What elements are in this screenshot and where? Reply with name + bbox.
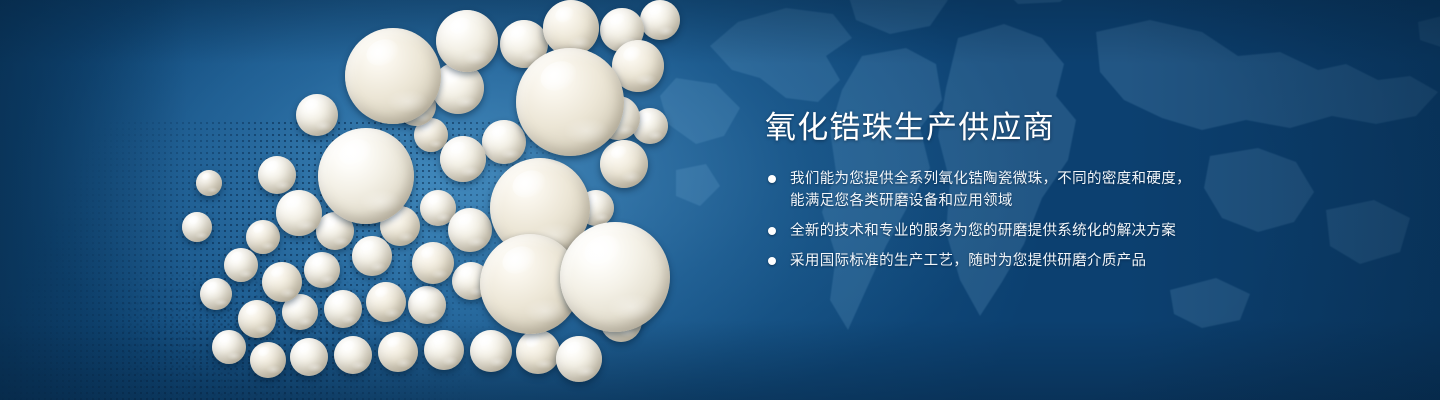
- feature-list-item-line: 我们能为您提供全系列氧化锆陶瓷微珠，不同的密度和硬度，: [790, 168, 1385, 190]
- ceramic-bead: [482, 120, 526, 164]
- ceramic-bead: [640, 0, 680, 40]
- ceramic-bead: [258, 156, 296, 194]
- banner-copy: 氧化锆珠生产供应商 我们能为您提供全系列氧化锆陶瓷微珠，不同的密度和硬度，能满足…: [765, 108, 1385, 280]
- ceramic-bead: [276, 190, 322, 236]
- ceramic-bead: [448, 208, 492, 252]
- ceramic-bead: [366, 282, 406, 322]
- ceramic-bead: [436, 10, 498, 72]
- ceramic-bead: [560, 222, 670, 332]
- ceramic-bead: [290, 338, 328, 376]
- feature-list-item-line: 能满足您各类研磨设备和应用领域: [790, 190, 1385, 212]
- ceramic-bead: [600, 140, 648, 188]
- ceramic-bead: [408, 286, 446, 324]
- ceramic-bead: [516, 330, 560, 374]
- ceramic-bead: [516, 48, 624, 156]
- ceramic-bead: [224, 248, 258, 282]
- ceramic-bead: [378, 332, 418, 372]
- ceramic-bead: [304, 252, 340, 288]
- bullet-dot-icon: [768, 175, 776, 183]
- bullet-dot-icon: [768, 227, 776, 235]
- feature-list-item: 采用国际标准的生产工艺，随时为您提供研磨介质产品: [765, 250, 1385, 272]
- ceramic-bead: [324, 290, 362, 328]
- ceramic-bead: [196, 170, 222, 196]
- ceramic-bead: [200, 278, 232, 310]
- ceramic-bead: [424, 330, 464, 370]
- ceramic-bead: [345, 28, 441, 124]
- ceramic-bead: [412, 242, 454, 284]
- feature-list-item: 全新的技术和专业的服务为您的研磨提供系统化的解决方案: [765, 220, 1385, 242]
- feature-list-item: 我们能为您提供全系列氧化锆陶瓷微珠，不同的密度和硬度，能满足您各类研磨设备和应用…: [765, 168, 1385, 212]
- ceramic-bead: [246, 220, 280, 254]
- ceramic-bead: [470, 330, 512, 372]
- ceramic-bead: [182, 212, 212, 242]
- bullet-dot-icon: [768, 257, 776, 265]
- feature-list-item-line: 采用国际标准的生产工艺，随时为您提供研磨介质产品: [790, 250, 1385, 272]
- ceramic-bead: [556, 336, 602, 382]
- ceramic-bead: [238, 300, 276, 338]
- ceramic-bead: [212, 330, 246, 364]
- ceramic-bead: [440, 136, 486, 182]
- banner-headline: 氧化锆珠生产供应商: [765, 108, 1385, 148]
- ceramic-bead: [296, 94, 338, 136]
- ceramic-bead: [250, 342, 286, 378]
- hero-banner: 氧化锆珠生产供应商 我们能为您提供全系列氧化锆陶瓷微珠，不同的密度和硬度，能满足…: [0, 0, 1440, 400]
- feature-list-item-line: 全新的技术和专业的服务为您的研磨提供系统化的解决方案: [790, 220, 1385, 242]
- ceramic-bead: [352, 236, 392, 276]
- banner-feature-list: 我们能为您提供全系列氧化锆陶瓷微珠，不同的密度和硬度，能满足您各类研磨设备和应用…: [765, 168, 1385, 272]
- ceramic-bead: [262, 262, 302, 302]
- ceramic-bead: [318, 128, 414, 224]
- ceramic-bead: [334, 336, 372, 374]
